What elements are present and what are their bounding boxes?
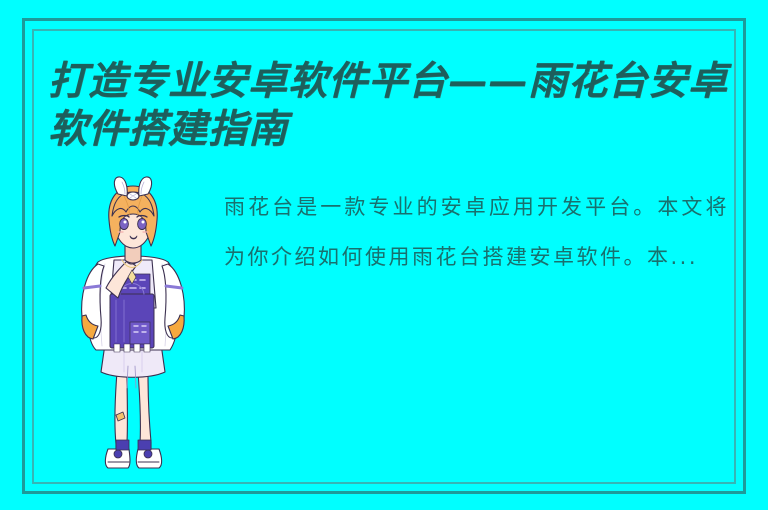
article-card: 打造专业安卓软件平台——雨花台安卓软件搭建指南 雨花台是一款专业的安卓应用开发平…: [0, 0, 768, 510]
page-title: 打造专业安卓软件平台——雨花台安卓软件搭建指南: [48, 57, 738, 153]
anime-girl-illustration: [72, 176, 192, 476]
article-excerpt: 雨花台是一款专业的安卓应用开发平台。本文将为你介绍如何使用雨花台搭建安卓软件。本…: [224, 182, 729, 282]
